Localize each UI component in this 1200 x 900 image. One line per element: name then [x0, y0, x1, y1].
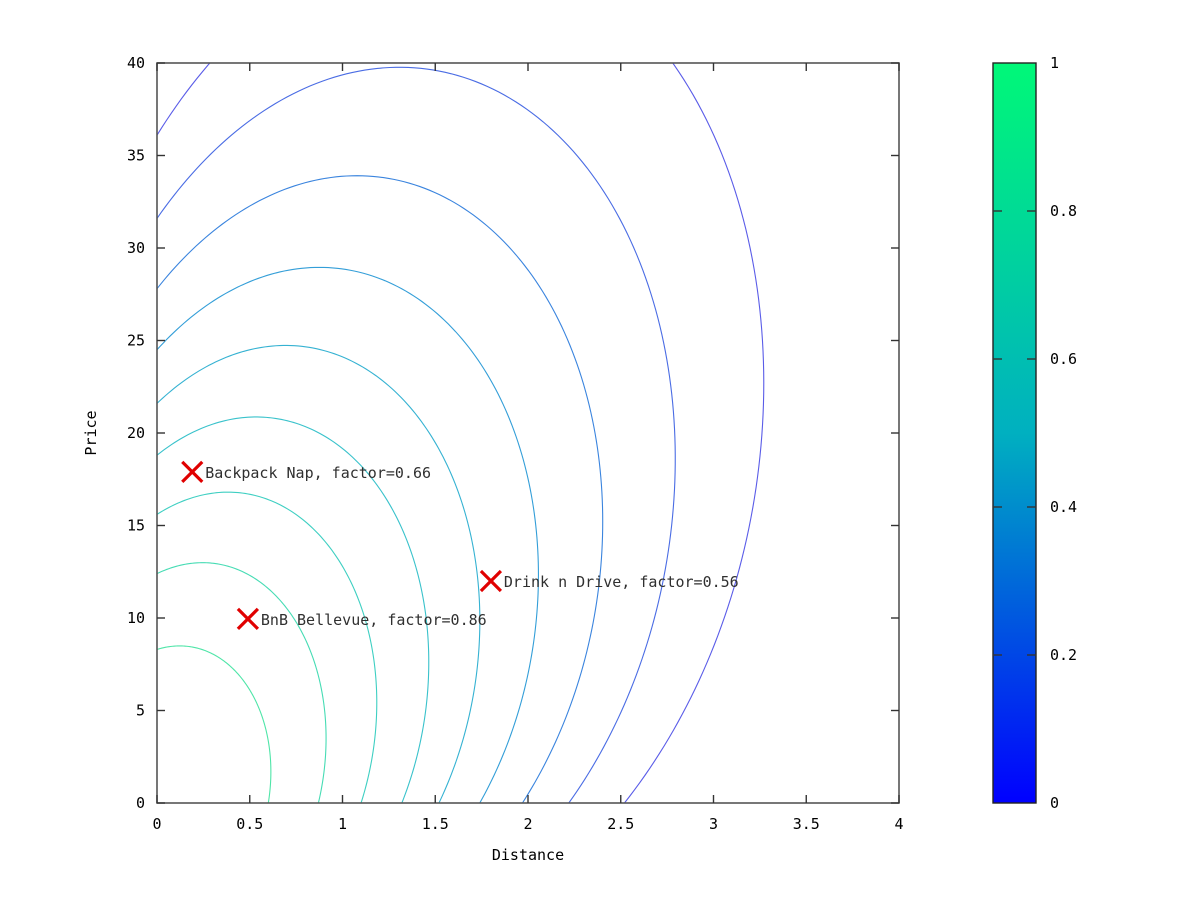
y-tick-label: 35: [127, 147, 145, 165]
annotation-markers-group: [182, 462, 501, 629]
colorbar-tick-label: 0.8: [1050, 202, 1077, 220]
x-axis-ticks: 00.511.522.533.54: [152, 63, 903, 833]
x-tick-label: 0.5: [236, 815, 263, 833]
colorbar-tick-label: 0.2: [1050, 646, 1077, 664]
annotation-label: Drink n Drive, factor=0.56: [504, 573, 739, 591]
y-tick-label: 5: [136, 702, 145, 720]
contour-line: [157, 492, 377, 803]
y-tick-label: 15: [127, 517, 145, 535]
colorbar-tick-label: 1: [1050, 54, 1059, 72]
contour-line: [157, 345, 480, 803]
x-tick-label: 0: [152, 815, 161, 833]
x-tick-label: 3.5: [793, 815, 820, 833]
plot-frame: [157, 63, 899, 803]
contour-line: [157, 267, 538, 803]
contour-line: [157, 67, 675, 803]
y-tick-label: 20: [127, 424, 145, 442]
y-tick-label: 30: [127, 239, 145, 257]
chart-canvas: Backpack Nap, factor=0.66Drink n Drive, …: [0, 0, 1200, 900]
x-tick-label: 1: [338, 815, 347, 833]
annotation-marker[interactable]: [481, 571, 501, 591]
colorbar-tick-label: 0: [1050, 794, 1059, 812]
y-axis-ticks: 0510152025303540: [127, 54, 899, 812]
annotation-marker[interactable]: [182, 462, 202, 482]
y-tick-label: 0: [136, 794, 145, 812]
contour-lines-group: [157, 0, 764, 803]
colorbar-tick-label: 0.4: [1050, 498, 1077, 516]
contour-line: [157, 646, 271, 803]
colorbar-gradient: [993, 63, 1036, 803]
x-tick-label: 3: [709, 815, 718, 833]
colorbar-tick-label: 0.6: [1050, 350, 1077, 368]
x-axis-title: Distance: [492, 846, 564, 864]
annotation-label: BnB Bellevue, factor=0.86: [261, 611, 487, 629]
x-tick-label: 2: [523, 815, 532, 833]
y-tick-label: 40: [127, 54, 145, 72]
annotation-labels-group: Backpack Nap, factor=0.66Drink n Drive, …: [205, 464, 738, 629]
x-tick-label: 4: [894, 815, 903, 833]
contour-line: [157, 563, 326, 803]
contour-plot-svg: Backpack Nap, factor=0.66Drink n Drive, …: [0, 0, 1200, 900]
y-axis-title: Price: [82, 410, 100, 455]
y-tick-label: 10: [127, 609, 145, 627]
x-tick-label: 1.5: [422, 815, 449, 833]
annotation-label: Backpack Nap, factor=0.66: [205, 464, 431, 482]
x-tick-label: 2.5: [607, 815, 634, 833]
annotation-marker[interactable]: [238, 609, 258, 629]
y-tick-label: 25: [127, 332, 145, 350]
